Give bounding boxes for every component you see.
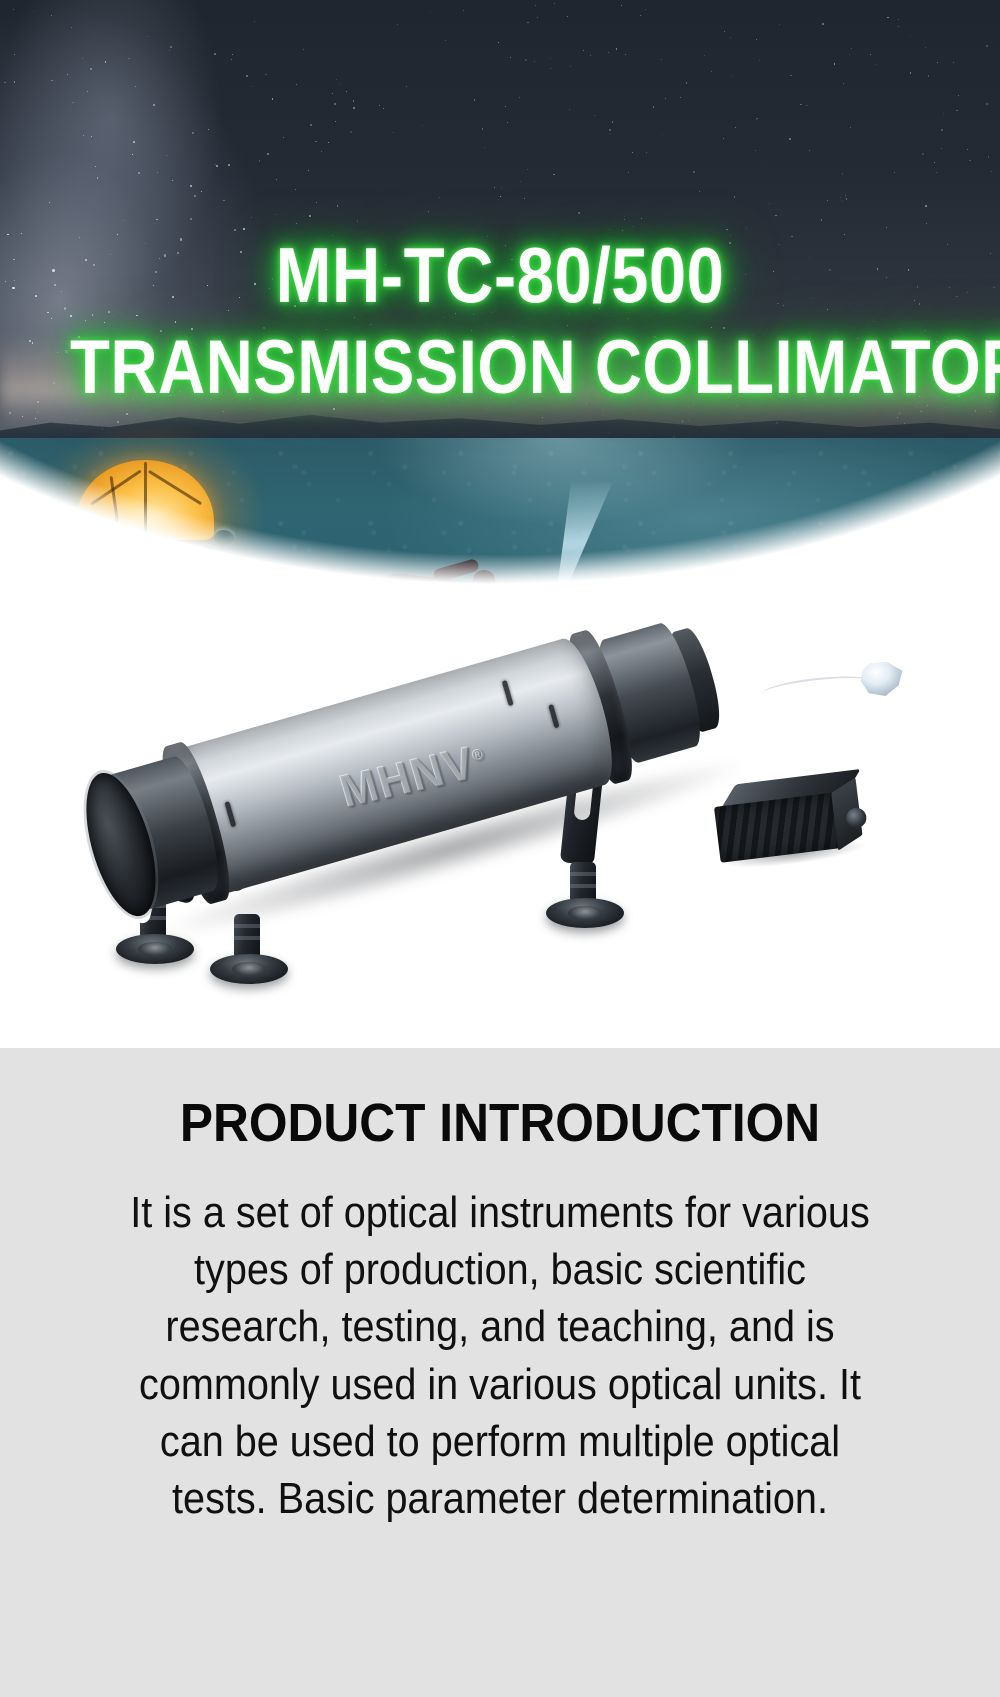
product-model-title: MH-TC-80/500 (70, 236, 930, 314)
product-image: MHNV® (0, 600, 1000, 1048)
brand-logo: MHNV® (333, 714, 561, 813)
intro-paragraph: It is a set of optical instruments for v… (113, 1184, 887, 1527)
person-head (473, 570, 495, 590)
rear-base (546, 898, 624, 928)
camping-tent (70, 452, 220, 552)
glass-optic-element (762, 652, 912, 714)
front-base-right (210, 954, 288, 984)
hero-titles: MH-TC-80/500 TRANSMISSION COLLIMATOR (0, 236, 1000, 406)
tent-seam (144, 462, 147, 536)
hero-banner: MH-TC-80/500 TRANSMISSION COLLIMATOR (0, 0, 1000, 1048)
optic-wire (761, 672, 874, 704)
intro-heading: PRODUCT INTRODUCTION (40, 1048, 960, 1154)
brand-text: MHNV (335, 737, 482, 818)
product-introduction-section: PRODUCT INTRODUCTION It is a set of opti… (0, 1048, 1000, 1697)
collimator-tube-assembly: MHNV® (72, 563, 792, 981)
product-name-title: TRANSMISSION COLLIMATOR (70, 330, 930, 406)
optic-crystal (860, 662, 904, 696)
